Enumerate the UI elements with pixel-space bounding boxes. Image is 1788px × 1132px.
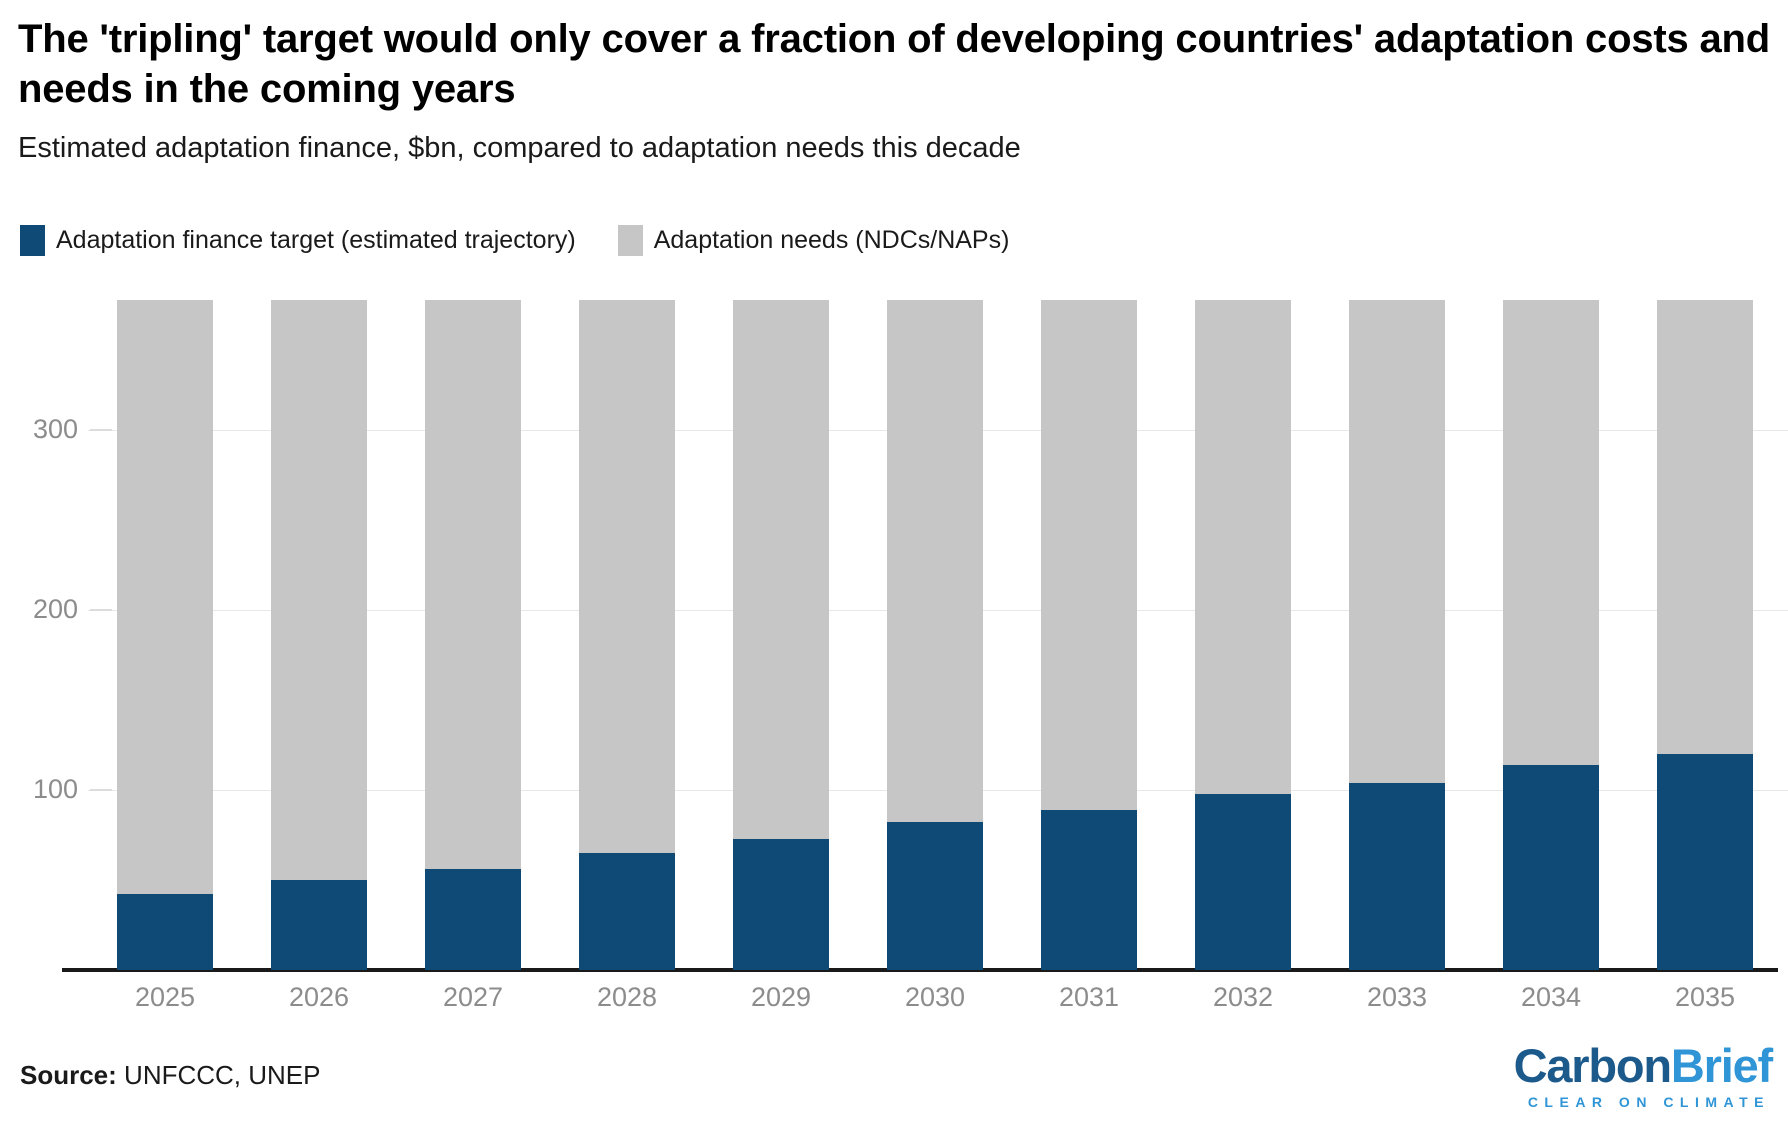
source-value: UNFCCC, UNEP bbox=[117, 1060, 321, 1090]
x-axis-tick-label: 2032 bbox=[1166, 984, 1320, 1011]
bar-group[interactable] bbox=[1503, 300, 1598, 970]
source-label: Source: bbox=[20, 1060, 117, 1090]
gridline bbox=[88, 430, 1788, 431]
y-axis-tick-mark bbox=[90, 789, 112, 791]
logo-word-carbon: Carbon bbox=[1514, 1039, 1671, 1092]
x-axis-line bbox=[62, 968, 1778, 972]
gridline bbox=[88, 790, 1788, 791]
bar-segment-needs[interactable] bbox=[1349, 300, 1444, 970]
logo-tagline: CLEAR ON CLIMATE bbox=[1504, 1095, 1772, 1109]
chart-page: The 'tripling' target would only cover a… bbox=[0, 0, 1788, 1132]
bar-segment-needs[interactable] bbox=[1503, 300, 1598, 970]
bar-group[interactable] bbox=[425, 300, 520, 970]
bar-segment-needs[interactable] bbox=[733, 300, 828, 970]
bar-group[interactable] bbox=[1349, 300, 1444, 970]
page-title: The 'tripling' target would only cover a… bbox=[18, 14, 1778, 115]
bar-segment-needs[interactable] bbox=[1041, 300, 1136, 970]
logo-wordmark: CarbonBrief bbox=[1504, 1042, 1772, 1089]
y-axis-tick-label: 200 bbox=[16, 596, 78, 623]
bar-group[interactable] bbox=[271, 300, 366, 970]
bar-group[interactable] bbox=[117, 300, 212, 970]
bar-segment-finance[interactable] bbox=[1349, 783, 1444, 970]
legend-swatch-needs bbox=[618, 225, 643, 256]
bar-segment-needs[interactable] bbox=[425, 300, 520, 970]
x-axis-tick-label: 2027 bbox=[396, 984, 550, 1011]
bar-segment-needs[interactable] bbox=[1195, 300, 1290, 970]
x-axis-tick-label: 2033 bbox=[1320, 984, 1474, 1011]
bar-segment-finance[interactable] bbox=[1503, 765, 1598, 970]
bar-segment-finance[interactable] bbox=[1195, 794, 1290, 970]
bar-segment-needs[interactable] bbox=[1657, 300, 1752, 970]
legend-item-label: Adaptation needs (NDCs/NAPs) bbox=[654, 228, 1010, 253]
bar-segment-needs[interactable] bbox=[117, 300, 212, 970]
x-axis-tick-label: 2034 bbox=[1474, 984, 1628, 1011]
legend-item-label: Adaptation finance target (estimated tra… bbox=[56, 228, 576, 253]
bar-segment-finance[interactable] bbox=[733, 839, 828, 970]
carbonbrief-logo: CarbonBrief CLEAR ON CLIMATE bbox=[1504, 1042, 1772, 1109]
legend-swatch-finance bbox=[20, 225, 45, 256]
chart-legend: Adaptation finance target (estimated tra… bbox=[20, 225, 1009, 256]
chart-subtitle: Estimated adaptation finance, $bn, compa… bbox=[18, 131, 1778, 166]
x-axis-tick-label: 2030 bbox=[858, 984, 1012, 1011]
source-note: Source: UNFCCC, UNEP bbox=[20, 1062, 320, 1088]
y-axis-tick-label: 300 bbox=[16, 416, 78, 443]
bar-segment-finance[interactable] bbox=[117, 894, 212, 970]
x-axis-tick-label: 2028 bbox=[550, 984, 704, 1011]
bar-segment-finance[interactable] bbox=[1657, 754, 1752, 970]
x-axis-tick-label: 2026 bbox=[242, 984, 396, 1011]
bar-segment-finance[interactable] bbox=[1041, 810, 1136, 970]
bar-group[interactable] bbox=[887, 300, 982, 970]
legend-item: Adaptation finance target (estimated tra… bbox=[20, 225, 576, 256]
x-axis-tick-label: 2035 bbox=[1628, 984, 1782, 1011]
bar-group[interactable] bbox=[1195, 300, 1290, 970]
x-axis-tick-label: 2025 bbox=[88, 984, 242, 1011]
bar-segment-finance[interactable] bbox=[271, 880, 366, 970]
bar-group[interactable] bbox=[1041, 300, 1136, 970]
bar-group[interactable] bbox=[733, 300, 828, 970]
logo-word-brief: Brief bbox=[1671, 1039, 1772, 1092]
bar-segment-finance[interactable] bbox=[579, 853, 674, 970]
bar-segment-finance[interactable] bbox=[425, 869, 520, 970]
bar-segment-finance[interactable] bbox=[887, 822, 982, 970]
gridline bbox=[88, 610, 1788, 611]
legend-item: Adaptation needs (NDCs/NAPs) bbox=[618, 225, 1010, 256]
x-axis-tick-label: 2029 bbox=[704, 984, 858, 1011]
bar-group[interactable] bbox=[1657, 300, 1752, 970]
plot-area: 1002003002025202620272028202920302031203… bbox=[0, 0, 1788, 1132]
bar-segment-needs[interactable] bbox=[887, 300, 982, 970]
bar-segment-needs[interactable] bbox=[271, 300, 366, 970]
plot-inner: 1002003002025202620272028202920302031203… bbox=[0, 0, 1788, 1132]
y-axis-tick-mark bbox=[90, 609, 112, 611]
x-axis-tick-label: 2031 bbox=[1012, 984, 1166, 1011]
bar-group[interactable] bbox=[579, 300, 674, 970]
chart-header: The 'tripling' target would only cover a… bbox=[18, 14, 1778, 166]
y-axis-tick-mark bbox=[90, 429, 112, 431]
y-axis-tick-label: 100 bbox=[16, 776, 78, 803]
bar-segment-needs[interactable] bbox=[579, 300, 674, 970]
